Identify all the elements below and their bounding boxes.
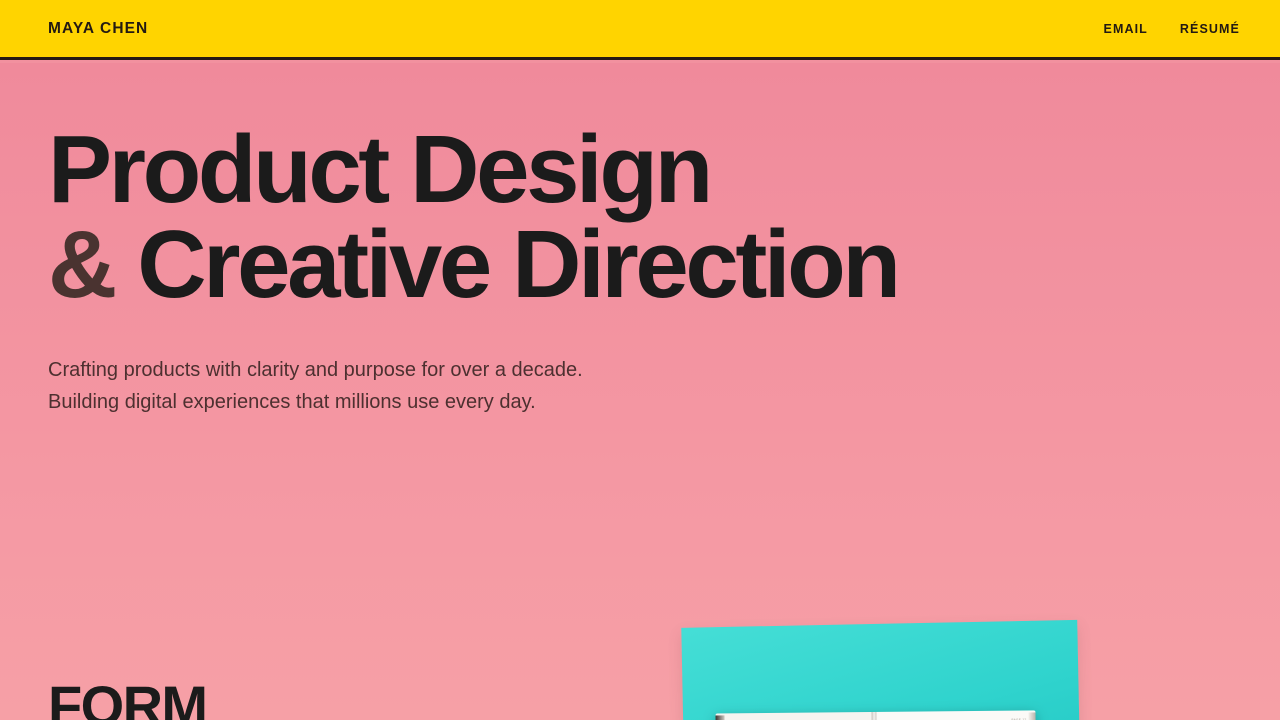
next-section-title: FORM (48, 678, 206, 720)
site-header: MAYA CHEN EMAIL RÉSUMÉ (0, 0, 1280, 60)
hero-photo-magazine: ISSUE 04 · SPRING The ZIN EDITOR'S NOTE … (672, 556, 1089, 720)
hero-subtitle: Crafting products with clarity and purpo… (48, 354, 1238, 418)
page-edge-right (1029, 712, 1037, 720)
subtitle-line-2: Building digital experiences that millio… (48, 386, 1238, 418)
headline-line-2: & Creative Direction (48, 217, 1238, 312)
page-edge-left (716, 715, 726, 720)
magazine-spine (871, 712, 877, 720)
hero-content: Product Design & Creative Direction Craf… (48, 63, 1238, 418)
nav-link-email[interactable]: EMAIL (1104, 22, 1148, 36)
portfolio-landing-page: MAYA CHEN EMAIL RÉSUMÉ Product Design & … (0, 0, 1280, 720)
headline-line-2-text: Creative Direction (114, 211, 898, 318)
teal-backdrop-card (681, 620, 1081, 720)
headline-ampersand: & (48, 211, 114, 318)
hero-section: Product Design & Creative Direction Craf… (0, 63, 1280, 720)
headline-line-1: Product Design (48, 116, 710, 223)
primary-nav: EMAIL RÉSUMÉ (1104, 22, 1240, 36)
nav-link-resume[interactable]: RÉSUMÉ (1180, 22, 1240, 36)
subtitle-line-1: Crafting products with clarity and purpo… (48, 354, 1238, 386)
brand-wordmark[interactable]: MAYA CHEN (48, 20, 148, 38)
magazine-left-page: ISSUE 04 · SPRING The ZIN EDITOR'S NOTE (715, 712, 874, 720)
magazine-right-page: PAGE 12 FIELD NOTES (873, 710, 1036, 720)
page-title: Product Design & Creative Direction (48, 122, 1238, 312)
